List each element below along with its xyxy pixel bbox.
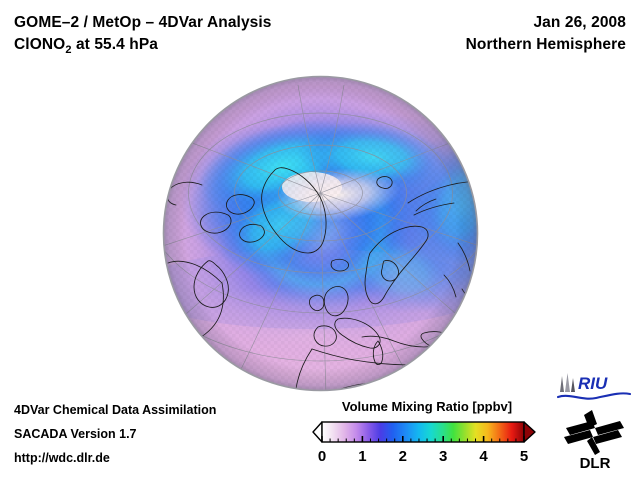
footer-url[interactable]: http://wdc.dlr.de xyxy=(14,446,216,470)
hemisphere-label: Northern Hemisphere xyxy=(466,34,626,56)
svg-text:5: 5 xyxy=(520,448,528,465)
svg-text:0: 0 xyxy=(318,448,326,465)
species-level-title: ClONO2 at 55.4 hPa xyxy=(14,34,272,56)
colorbar-gradient xyxy=(322,422,524,442)
header-left: GOME–2 / MetOp – 4DVar Analysis ClONO2 a… xyxy=(14,12,272,56)
figure-canvas: GOME–2 / MetOp – 4DVar Analysis ClONO2 a… xyxy=(0,0,640,480)
instrument-title: GOME–2 / MetOp – 4DVar Analysis xyxy=(14,12,272,34)
colorbar-title: Volume Mixing Ratio [ppbv] xyxy=(311,398,543,416)
footer-text: 4DVar Chemical Data Assimilation SACADA … xyxy=(14,398,216,470)
species-name: ClONO xyxy=(14,36,65,53)
globe-map xyxy=(162,75,479,392)
riu-tower-icon xyxy=(560,373,575,392)
riu-wordmark: RIU xyxy=(578,374,608,393)
dlr-mark-icon xyxy=(564,410,624,458)
svg-text:2: 2 xyxy=(399,448,407,465)
header-right: Jan 26, 2008 Northern Hemisphere xyxy=(466,12,626,56)
svg-text:1: 1 xyxy=(358,448,366,465)
riu-wave-icon xyxy=(558,393,630,398)
colorbar-low-arrow xyxy=(313,422,322,442)
riu-logo: RIU xyxy=(556,372,632,407)
dlr-logo-svg: DLR xyxy=(562,408,628,470)
globe-svg xyxy=(162,75,479,392)
colorbar: Volume Mixing Ratio [ppbv] 012345 xyxy=(311,398,543,470)
riu-logo-svg: RIU xyxy=(556,372,632,402)
limb-shading xyxy=(164,77,478,391)
dlr-wordmark: DLR xyxy=(580,455,611,470)
date-label: Jan 26, 2008 xyxy=(466,12,626,34)
colorbar-tick-labels: 012345 xyxy=(318,448,528,465)
svg-text:4: 4 xyxy=(479,448,488,465)
colorbar-svg: 012345 xyxy=(311,420,543,470)
dlr-logo: DLR xyxy=(562,408,628,475)
colorbar-high-arrow xyxy=(524,422,535,442)
svg-text:3: 3 xyxy=(439,448,447,465)
pressure-level: at 55.4 hPa xyxy=(72,36,159,53)
footer-method: 4DVar Chemical Data Assimilation xyxy=(14,398,216,422)
footer-version: SACADA Version 1.7 xyxy=(14,422,216,446)
